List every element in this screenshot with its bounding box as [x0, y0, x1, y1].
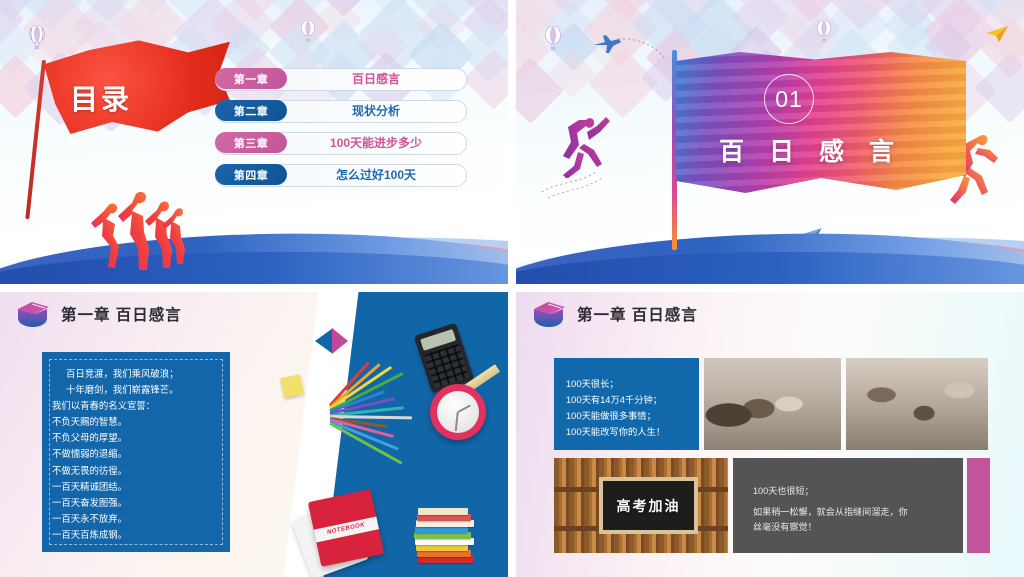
chalkboard-text: 高考加油: [616, 496, 680, 516]
slide-thumbnail-pledge[interactable]: 第一章 百日感言 百日竞渡，我们乘风破浪；十年磨剑，我们崭露锋芒。我们以青春的名…: [0, 292, 508, 577]
pledge-line: 不做懦弱的退缩。: [52, 446, 220, 462]
photo-students-studying: [704, 358, 841, 450]
hot-air-balloon-icon: [544, 26, 562, 52]
graduation-cap-icon: [532, 300, 566, 328]
pledge-line: 一百天永不放弃。: [52, 511, 220, 527]
toc-row[interactable]: 第二章现状分析: [215, 100, 465, 121]
section-number: 01: [775, 86, 803, 113]
toc-chapter-title: 现状分析: [293, 100, 459, 121]
pledge-text-box: 百日竞渡，我们乘风破浪；十年磨剑，我们崭露锋芒。我们以青春的名义宣誓：不负天赐的…: [42, 352, 230, 552]
toc-row[interactable]: 第四章怎么过好100天: [215, 164, 465, 185]
book-icon: [418, 556, 474, 563]
magenta-accent-bar: [967, 458, 990, 553]
gray-box-line: 如果稍一松懈，就会从指缝间溜走，你: [753, 505, 947, 520]
gray-box-line: 100天也很短；: [753, 484, 947, 499]
slide-header-title: 第一章 百日感言: [61, 303, 182, 325]
pledge-line: 我们以青春的名义宣誓：: [52, 398, 220, 414]
slide-thumbnail-100days[interactable]: 第一章 百日感言 100天很长；100天有14万4千分钟；100天能做很多事情；…: [516, 292, 1024, 577]
pledge-line: 不负天赐的智慧。: [52, 414, 220, 430]
motion-dots-decoration: [538, 150, 618, 200]
sticky-note-icon: [280, 374, 304, 398]
pledge-line: 不做无畏的彷徨。: [52, 463, 220, 479]
slide-thumbnail-section-cover[interactable]: 01 百 日 感 言: [516, 0, 1024, 284]
wave-decoration: [516, 207, 1024, 284]
graduation-cap-icon: [16, 300, 50, 328]
clock-icon: [430, 384, 486, 440]
slide-thumbnail-toc[interactable]: 目录 第一章百日感言第二章现状分析第三章100天能进步多少第四章怎么过好100天: [0, 0, 508, 284]
blue-box-line: 100天有14万4千分钟；: [566, 392, 665, 408]
book-icon: [417, 550, 471, 557]
blue-box-line: 100天能改写你的人生！: [566, 424, 665, 440]
photo-crowded-classroom: [846, 358, 988, 450]
book-icon: [415, 526, 468, 533]
slide-header: 第一章 百日感言: [16, 300, 182, 328]
gray-info-box: 100天也很短；如果稍一松懈，就会从指缝间溜走，你丝毫没有察觉！: [733, 458, 963, 553]
toc-chapter-chip[interactable]: 第三章: [215, 132, 287, 153]
toc-chapter-title: 百日感言: [293, 68, 459, 89]
gray-box-lines: 100天也很短；如果稍一松懈，就会从指缝间溜走，你丝毫没有察觉！: [753, 484, 947, 535]
paper-plane-icon: [986, 26, 1008, 42]
pledge-lines: 百日竞渡，我们乘风破浪；十年磨剑，我们崭露锋芒。我们以青春的名义宣誓：不负天赐的…: [52, 366, 220, 538]
book-icon: [414, 532, 471, 539]
slide-thumbnail-grid: 目录 第一章百日感言第二章现状分析第三章100天能进步多少第四章怎么过好100天: [0, 0, 1024, 577]
section-number-badge: 01: [764, 74, 814, 124]
toc-row[interactable]: 第一章百日感言: [215, 68, 465, 89]
books-stack-icon: [414, 509, 474, 563]
book-icon: [415, 538, 474, 545]
chalkboard: 高考加油: [599, 477, 697, 534]
plane-trail-dots: [618, 36, 668, 64]
pledge-line: 十年磨剑，我们崭露锋芒。: [52, 382, 220, 398]
pledge-line: 百日竞渡，我们乘风破浪；: [52, 366, 220, 382]
pledge-line: 一百天奋发图强。: [52, 495, 220, 511]
gray-box-line: 丝毫没有察觉！: [753, 520, 947, 535]
diamond-tile: [975, 52, 1024, 123]
toc-chapter-chip[interactable]: 第一章: [215, 68, 287, 89]
pencils-icon: [324, 370, 410, 450]
blue-box-line: 100天能做很多事情；: [566, 408, 665, 424]
book-icon: [418, 508, 468, 515]
book-icon: [417, 514, 471, 521]
runner-silhouette-icon: [88, 180, 198, 272]
blue-box-lines: 100天很长；100天有14万4千分钟；100天能做很多事情；100天能改写你的…: [566, 376, 665, 440]
spiral-notebook-red-icon: NOTEBOOK: [308, 489, 384, 567]
toc-chapter-chip[interactable]: 第二章: [215, 100, 287, 121]
desk-supplies-illustration: NOTEBOOK: [318, 292, 508, 577]
section-gradient-flag: [676, 52, 966, 202]
pledge-line: 一百天百炼成钢。: [52, 527, 220, 543]
pledge-line: 一百天精诚团结。: [52, 479, 220, 495]
slide-header: 第一章 百日感言: [532, 300, 698, 328]
book-icon: [416, 544, 468, 551]
photo-bookshelf-chalkboard: 高考加油: [554, 458, 728, 553]
toc-list: 第一章百日感言第二章现状分析第三章100天能进步多少第四章怎么过好100天: [215, 68, 465, 185]
section-title: 百 日 感 言: [706, 132, 916, 168]
toc-flag-label: 目录: [70, 78, 132, 118]
toc-chapter-title: 100天能进步多少: [293, 132, 459, 153]
pledge-line: 不负父母的厚望。: [52, 430, 220, 446]
hot-air-balloon-icon: [28, 25, 46, 51]
toc-chapter-title: 怎么过好100天: [293, 164, 459, 185]
calculator-icon: [414, 323, 474, 394]
hot-air-balloon-icon: [300, 20, 316, 43]
book-icon: [416, 520, 474, 527]
wave-decoration: [0, 207, 508, 284]
hot-air-balloon-icon: [816, 20, 832, 43]
toc-chapter-chip[interactable]: 第四章: [215, 164, 287, 185]
blue-info-box: 100天很长；100天有14万4千分钟；100天能做很多事情；100天能改写你的…: [554, 358, 699, 450]
blue-box-line: 100天很长；: [566, 376, 665, 392]
toc-row[interactable]: 第三章100天能进步多少: [215, 132, 465, 153]
slide-header-title: 第一章 百日感言: [577, 303, 698, 325]
